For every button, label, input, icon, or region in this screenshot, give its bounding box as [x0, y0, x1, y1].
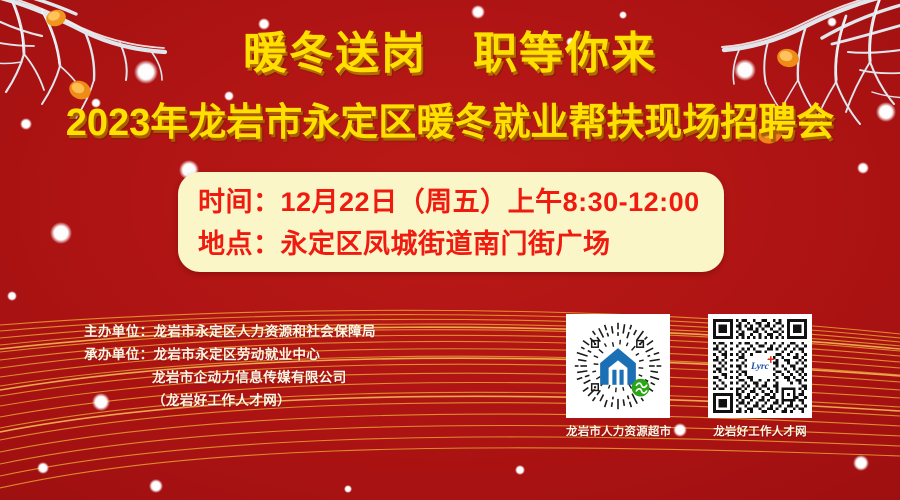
organizer-label: 主办单位： [84, 324, 154, 339]
standard-qr-icon[interactable]: Lyrc [713, 319, 807, 413]
organizer-block: 主办单位：龙岩市永定区人力资源和社会保障局 承办单位：龙岩市永定区劳动就业中心 … [84, 320, 504, 412]
organizer-row: 龙岩市企动力信息传媒有限公司 [84, 366, 504, 389]
poster-headline: 暖冬送岗 职等你来 [0, 32, 900, 76]
organizer-value: 龙岩市永定区劳动就业中心 [154, 347, 321, 362]
qr-caption: 龙岩好工作人才网 [708, 423, 812, 439]
snowy-branch-right-icon [618, 0, 900, 186]
event-info-panel: 时间：12月22日（周五）上午8:30-12:00 地点：永定区凤城街道南门街广… [178, 172, 724, 272]
organizer-value: 龙岩市企动力信息传媒有限公司 [152, 370, 347, 385]
qr-logo-text: Lyrc [750, 361, 770, 372]
organizer-value: （龙岩好工作人才网） [152, 393, 291, 408]
organizer-row: 承办单位：龙岩市永定区劳动就业中心 [84, 343, 504, 366]
qr-card[interactable] [566, 314, 670, 418]
organizer-value: 龙岩市永定区人力资源和社会保障局 [154, 324, 376, 339]
poster-subheadline: 2023年龙岩市永定区暖冬就业帮扶现场招聘会 [0, 104, 900, 144]
qr-caption: 龙岩市人力资源超市 [566, 423, 670, 439]
organizer-row: （龙岩好工作人才网） [84, 389, 504, 412]
organizer-row: 主办单位：龙岩市永定区人力资源和社会保障局 [84, 320, 504, 343]
event-location-row: 地点：永定区凤城街道南门街广场 [198, 223, 724, 265]
qr-code-job-website[interactable]: Lyrc 龙岩好工作人才网 [708, 314, 812, 439]
qr-card[interactable]: Lyrc [708, 314, 812, 418]
organizer-label: 承办单位： [84, 347, 154, 362]
qr-code-hr-supermarket[interactable]: 龙岩市人力资源超市 [566, 314, 670, 439]
recruitment-poster: 暖冬送岗 职等你来 2023年龙岩市永定区暖冬就业帮扶现场招聘会 时间：12月2… [0, 0, 900, 500]
wechat-mini-program-qr-icon[interactable] [571, 319, 665, 413]
wechat-badge-icon [632, 379, 650, 397]
event-time-row: 时间：12月22日（周五）上午8:30-12:00 [198, 181, 724, 223]
